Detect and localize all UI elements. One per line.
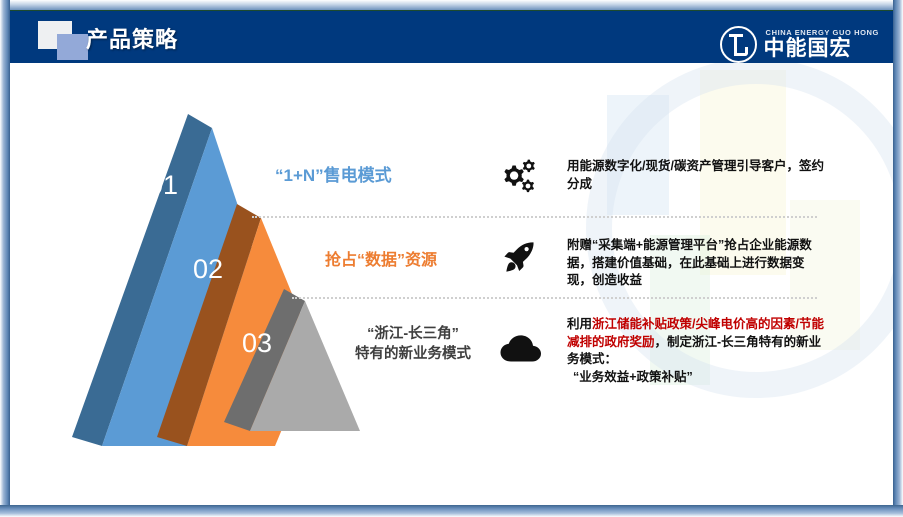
brand-chinese-name: 中能国宏 [764, 37, 879, 60]
row-3-title-line-2: 特有的新业务模式 [355, 344, 471, 364]
cloud-icon [499, 333, 543, 370]
watermark-shape-blue [607, 95, 669, 215]
brand-mark-icon [720, 26, 757, 63]
row-2-description: 附赠“采集端+能源管理平台”抢占企业能源数据，搭建价值基础，在此基础上进行数据变… [567, 237, 829, 290]
row-1-title: “1+N”售电模式 [275, 161, 392, 186]
brand-hook-shape [734, 47, 748, 56]
pyramid-level-number-03: 03 [242, 328, 272, 359]
slide-frame-right [893, 0, 903, 517]
header-square-blue [57, 34, 88, 60]
gears-icon [497, 156, 539, 201]
row-3-desc-line-4: “业务效益+政策补贴” [567, 369, 829, 387]
brand-english-name: CHINA ENERGY GUO HONG [766, 28, 879, 37]
slide-frame-left [0, 0, 10, 517]
brand-logo: CHINA ENERGY GUO HONG 中能国宏 [720, 22, 879, 66]
row-3-title: “浙江-长三角” 特有的新业务模式 [355, 324, 471, 364]
slide-frame-top [0, 0, 903, 10]
row-1-description: 用能源数字化/现货/碳资产管理引导客户，签约分成 [567, 158, 829, 193]
pyramid-level-number-02: 02 [193, 254, 223, 285]
row-3-title-line-1: “浙江-长三角” [367, 326, 459, 342]
slide-frame-bottom [0, 505, 903, 517]
row-2-title: 抢占“数据”资源 [325, 246, 437, 270]
pyramid-level-number-01: 01 [148, 170, 178, 201]
page-title: 产品策略 [86, 22, 178, 54]
row-divider-2 [292, 297, 817, 299]
row-3-description: 利用浙江储能补贴政策/尖峰电价高的因素/节能减排的政府奖励，制定浙江-长三角特有… [567, 316, 829, 386]
rocket-icon [503, 240, 537, 279]
row-3-desc-prefix: 利用 [567, 317, 592, 331]
slide-canvas: 产品策略 CHINA ENERGY GUO HONG 中能国宏 01 02 03 [0, 0, 903, 517]
row-divider-1 [252, 216, 817, 218]
slide-header: 产品策略 CHINA ENERGY GUO HONG 中能国宏 [10, 10, 893, 63]
